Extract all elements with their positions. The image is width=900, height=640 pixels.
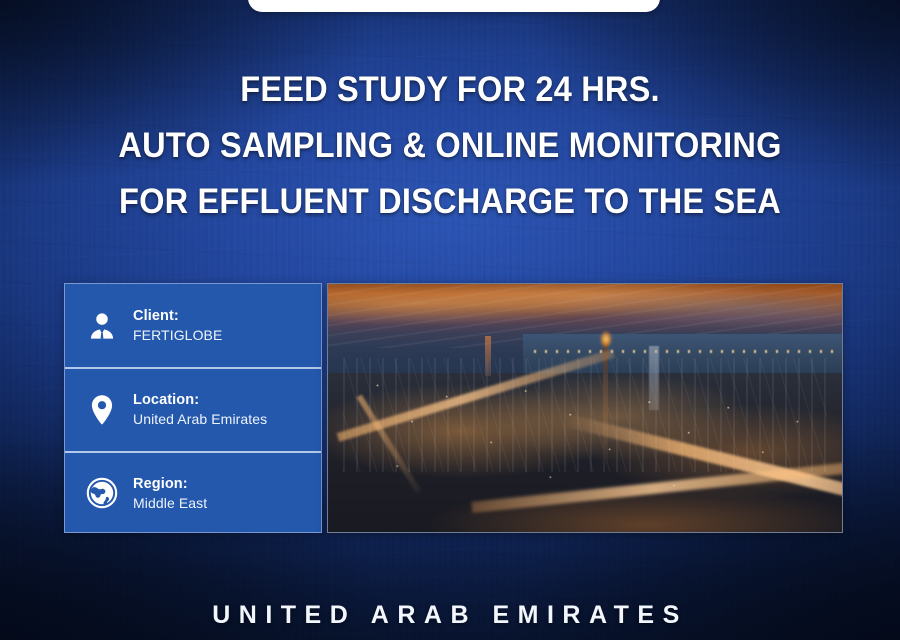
photo-horizon-lights (534, 350, 842, 353)
info-value-region: Middle East (133, 495, 207, 511)
info-value-client: FERTIGLOBE (133, 327, 222, 343)
page-title: FEED STUDY FOR 24 HRS. AUTO SAMPLING & O… (0, 62, 900, 230)
headline-line-3: FOR EFFLUENT DISCHARGE TO THE SEA (32, 174, 869, 230)
info-row-region: Region: Middle East (65, 451, 321, 534)
info-row-client: Client: FERTIGLOBE (65, 284, 321, 367)
globe-icon (79, 477, 125, 509)
project-photo (327, 283, 843, 533)
info-card-stack: Client: FERTIGLOBE Location: United Arab… (64, 283, 322, 533)
info-value-location: United Arab Emirates (133, 411, 267, 427)
info-label-location: Location: (133, 392, 267, 409)
info-text-location: Location: United Arab Emirates (133, 392, 267, 427)
info-text-region: Region: Middle East (133, 476, 207, 511)
photo-flare-flame (598, 326, 614, 348)
headline-line-1: FEED STUDY FOR 24 HRS. (32, 62, 869, 118)
footer-country-label: UNITED ARAB EMIRATES (0, 601, 900, 630)
industrial-plant-image (328, 284, 842, 532)
top-white-tab (248, 0, 660, 12)
photo-plant-lights (338, 366, 831, 505)
map-pin-icon (79, 394, 125, 426)
poster-canvas: FEED STUDY FOR 24 HRS. AUTO SAMPLING & O… (0, 0, 900, 640)
headline-line-2: AUTO SAMPLING & ONLINE MONITORING (32, 118, 869, 174)
info-text-client: Client: FERTIGLOBE (133, 308, 222, 343)
info-label-region: Region: (133, 476, 207, 493)
info-row-location: Location: United Arab Emirates (65, 367, 321, 450)
businessman-icon (79, 311, 125, 341)
info-label-client: Client: (133, 308, 222, 325)
